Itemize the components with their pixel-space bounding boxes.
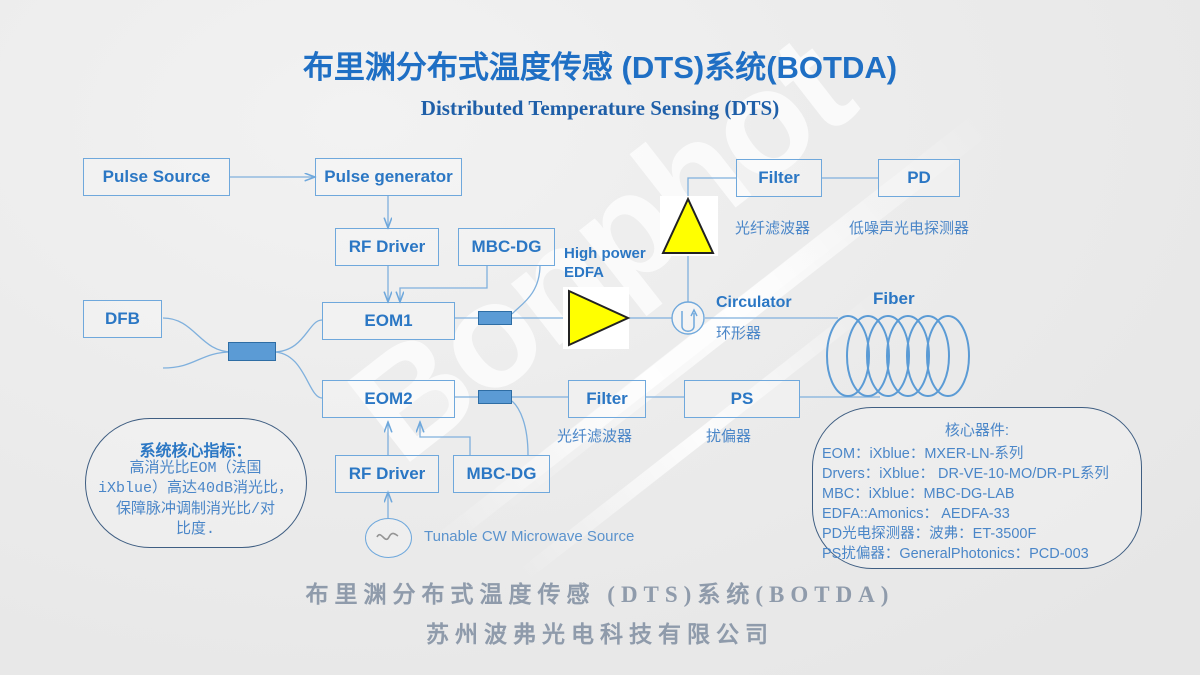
circulator-icon — [672, 302, 704, 334]
block-eom2[interactable]: EOM2 — [322, 380, 455, 418]
block-rf-driver-bottom[interactable]: RF Driver — [335, 455, 439, 493]
block-label: Filter — [758, 169, 800, 188]
block-label: DFB — [105, 310, 140, 329]
block-mbc-dg-bottom[interactable]: MBC-DG — [453, 455, 550, 493]
block-dfb[interactable]: DFB — [83, 300, 162, 338]
block-eom1[interactable]: EOM1 — [322, 302, 455, 340]
component-line: PS扰偏器：GeneralPhotonics：PCD-003 — [822, 542, 1089, 563]
coupler-eom2-output — [478, 390, 512, 404]
block-pulse-generator[interactable]: Pulse generator — [315, 158, 462, 196]
block-ps[interactable]: PS — [684, 380, 800, 418]
block-label: Pulse generator — [324, 168, 453, 187]
block-pulse-source[interactable]: Pulse Source — [83, 158, 230, 196]
coupler-eom1-output — [478, 311, 512, 325]
block-label: EOM1 — [364, 312, 412, 331]
block-label: Filter — [586, 390, 628, 409]
component-line: EOM：iXblue：MXER-LN-系列 — [822, 442, 1023, 463]
label-filter-top-cn: 光纤滤波器 — [735, 217, 810, 238]
diagram-canvas: Bonphot 布里渊分布式温度传感 (DTS)系统(BOTDA) Distri… — [0, 0, 1200, 675]
block-label: EOM2 — [364, 390, 412, 409]
fiber-coil — [827, 316, 969, 396]
label-circulator-en: Circulator — [716, 294, 792, 312]
block-label: Pulse Source — [103, 168, 211, 187]
callout-left-title: 系统核心指标： — [88, 437, 303, 461]
component-line: MBC：iXblue：MBC-DG-LAB — [822, 482, 1015, 503]
block-filter-bottom[interactable]: Filter — [568, 380, 646, 418]
component-line: EDFA::Amonics： AEDFA-33 — [822, 502, 1010, 523]
block-label: PS — [731, 390, 754, 409]
component-line: PD光电探测器：波弗：ET-3500F — [822, 522, 1036, 543]
label-circulator-cn: 环形器 — [716, 322, 761, 343]
label-pd-cn: 低噪声光电探测器 — [849, 217, 969, 238]
callout-right-title: 核心器件: — [818, 419, 1136, 440]
label-high-power-edfa: High power EDFA — [564, 245, 646, 283]
block-filter-top[interactable]: Filter — [736, 159, 822, 197]
label-ps-cn: 扰偏器 — [706, 425, 751, 446]
callout-left-body: 高消光比EOM（法国 iXblue）高达40dB消光比， 保障脉冲调制消光比/对… — [78, 459, 313, 540]
label-fiber: Fiber — [873, 289, 915, 309]
component-line: Drvers：iXblue： DR-VE-10-MO/DR-PL系列 — [822, 462, 1109, 483]
high-power-edfa-icon — [660, 196, 718, 256]
coupler-main — [228, 342, 276, 361]
connection-lines — [0, 0, 1200, 675]
block-label: RF Driver — [349, 465, 426, 484]
microwave-source-circle[interactable] — [365, 518, 412, 558]
edfa-amplifier-icon — [563, 287, 629, 349]
footer-company: 苏州波弗光电科技有限公司 — [0, 615, 1200, 649]
label-filter-bottom-cn: 光纤滤波器 — [557, 425, 632, 446]
block-label: PD — [907, 169, 931, 188]
block-rf-driver-top[interactable]: RF Driver — [335, 228, 439, 266]
footer-title: 布里渊分布式温度传感 (DTS)系统(BOTDA) — [0, 575, 1200, 609]
label-microwave-source: Tunable CW Microwave Source — [424, 528, 634, 545]
block-label: MBC-DG — [467, 465, 537, 484]
block-pd[interactable]: PD — [878, 159, 960, 197]
block-label: RF Driver — [349, 238, 426, 257]
block-label: MBC-DG — [472, 238, 542, 257]
block-mbc-dg-top[interactable]: MBC-DG — [458, 228, 555, 266]
